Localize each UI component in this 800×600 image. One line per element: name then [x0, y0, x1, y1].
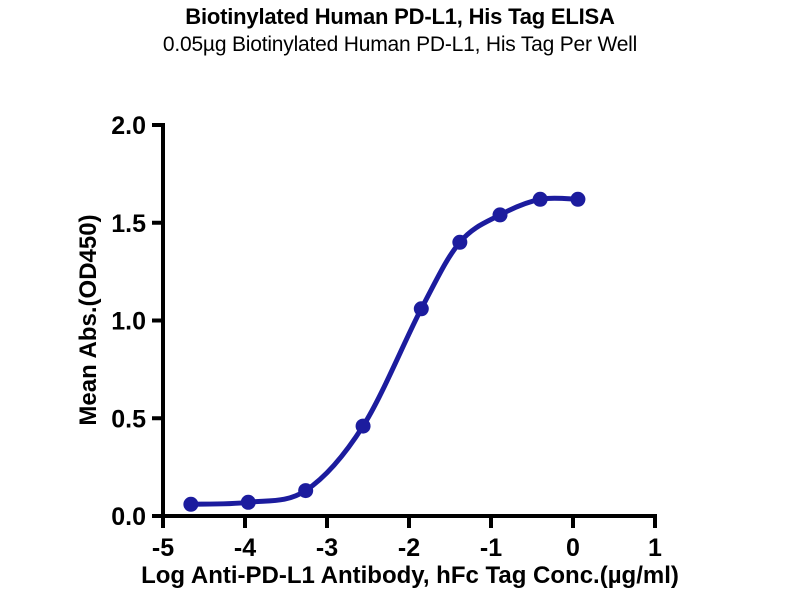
data-point-marker	[570, 192, 585, 207]
data-point-marker	[452, 235, 467, 250]
x-axis-label: Log Anti-PD-L1 Antibody, hFc Tag Conc.(µ…	[141, 562, 679, 589]
y-tick-label: 2.0	[111, 112, 146, 140]
y-axis-label: Mean Abs.(OD450)	[75, 214, 102, 425]
data-points	[183, 192, 585, 512]
y-tick-label: 1.0	[111, 308, 146, 336]
y-tick-label: 1.5	[111, 210, 146, 238]
y-tick-label: 0.5	[111, 405, 146, 433]
data-point-marker	[414, 301, 429, 316]
data-point-marker	[493, 207, 508, 222]
y-tick-label: 0.0	[111, 503, 146, 531]
x-tick-label: -3	[316, 534, 338, 562]
data-point-marker	[298, 483, 313, 498]
data-point-marker	[533, 192, 548, 207]
x-tick-label: -2	[398, 534, 420, 562]
data-point-marker	[241, 495, 256, 510]
plot-area: 0.00.51.01.52.0 -5-4-3-2-101 Mean Abs.(O…	[0, 0, 800, 600]
x-tick-label: -4	[234, 534, 256, 562]
x-axis-ticks: -5-4-3-2-101	[152, 516, 662, 562]
elisa-chart-figure: Biotinylated Human PD-L1, His Tag ELISA …	[0, 0, 800, 600]
x-tick-label: -5	[152, 534, 174, 562]
x-tick-label: 0	[566, 534, 580, 562]
x-tick-label: -1	[480, 534, 502, 562]
y-axis-ticks: 0.00.51.01.52.0	[111, 112, 163, 531]
data-point-marker	[356, 419, 371, 434]
dose-response-curve	[191, 198, 578, 504]
x-tick-label: 1	[648, 534, 662, 562]
data-point-marker	[183, 497, 198, 512]
